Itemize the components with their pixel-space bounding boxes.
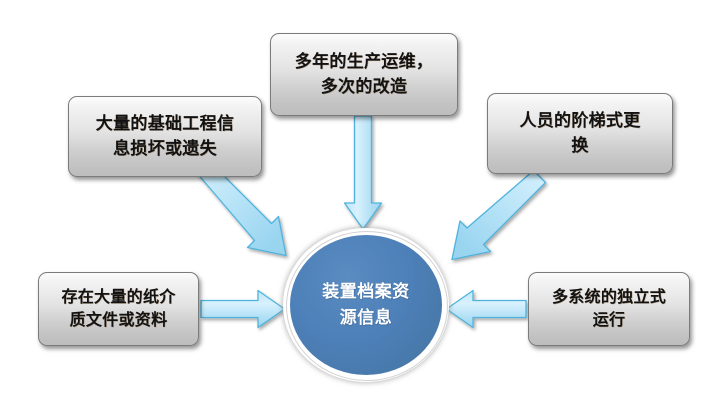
node-label-top: 多年的生产运维， 多次的改造 [285,50,443,98]
arrow-top-down [345,116,382,229]
arrow-lower-right [447,291,527,328]
node-box-upper-left[interactable]: 大量的基础工程信 息损坏或遗失 [68,96,262,177]
node-label-upper-right: 人员的阶梯式更 换 [509,109,650,157]
center-node-disc: 装置档案资 源信息 [290,235,442,375]
diagram-canvas: 多年的生产运维， 多次的改造 大量的基础工程信 息损坏或遗失 人员的阶梯式更 换… [0,0,723,417]
arrow-lower-left [201,291,285,328]
node-label-lower-left: 存在大量的纸介 质文件或资料 [55,286,181,331]
arrow-upper-right [452,171,546,260]
center-node-label: 装置档案资 源信息 [322,279,410,332]
center-node[interactable]: 装置档案资 源信息 [283,228,449,382]
node-label-upper-left: 大量的基础工程信 息损坏或遗失 [86,112,244,160]
node-box-lower-left[interactable]: 存在大量的纸介 质文件或资料 [38,272,199,346]
node-box-upper-right[interactable]: 人员的阶梯式更 换 [487,93,673,174]
node-box-top[interactable]: 多年的生产运维， 多次的改造 [270,33,458,116]
node-label-lower-right: 多系统的独立式 运行 [546,286,672,331]
node-box-lower-right[interactable]: 多系统的独立式 运行 [528,272,690,346]
